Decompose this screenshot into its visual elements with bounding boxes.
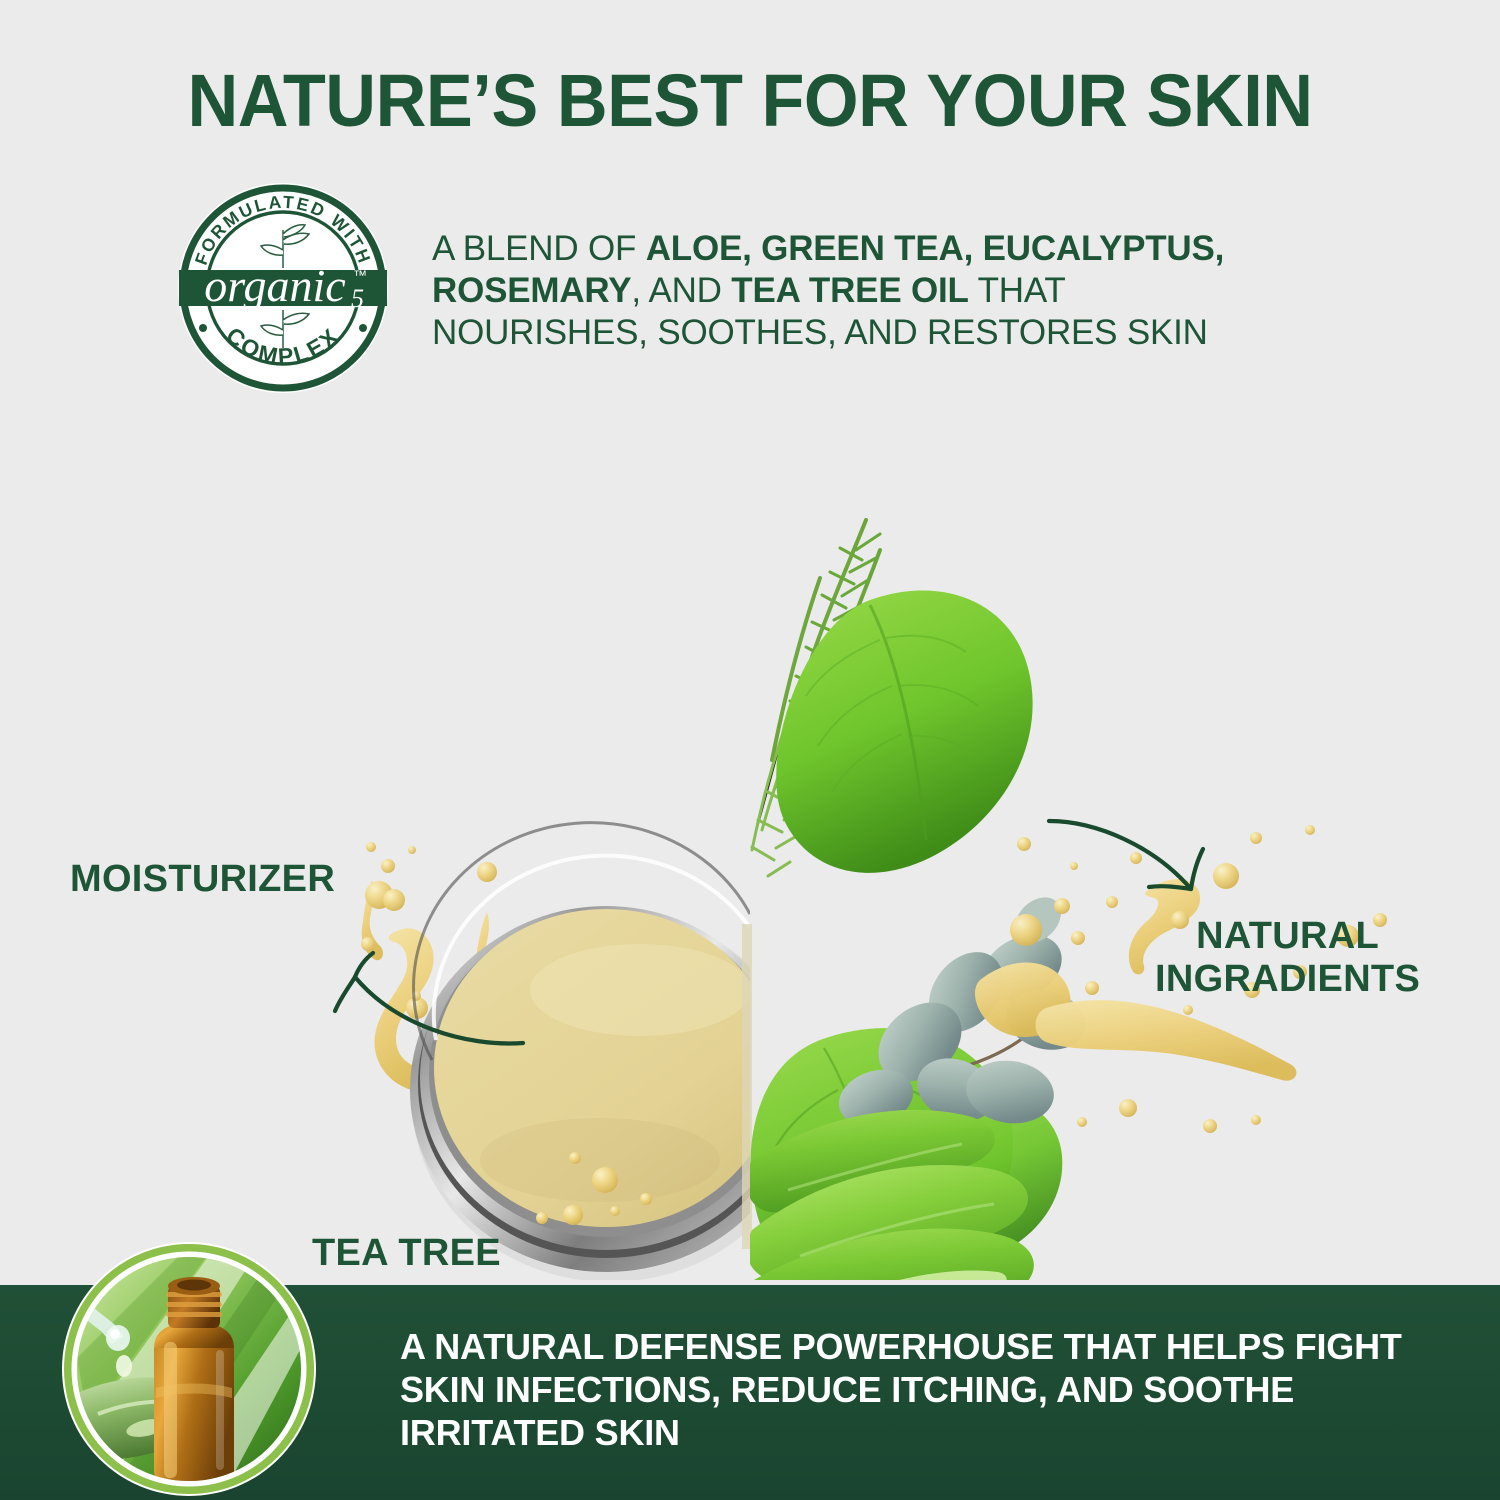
intro-text-plain-1: A BLEND OF bbox=[432, 229, 646, 268]
badge-brand-text: organic bbox=[204, 260, 345, 311]
intro-text-bold-2: ROSEMARY bbox=[432, 271, 631, 310]
banner-line-2: SKIN INFECTIONS, REDUCE ITCHING, AND SOO… bbox=[400, 1368, 1470, 1411]
oil-droplets-under-tin bbox=[460, 1080, 680, 1240]
banner-line-3: IRRITATED SKIN bbox=[400, 1411, 1470, 1454]
intro-text-bold-1: ALOE, GREEN TEA, EUCALYPTUS, bbox=[646, 229, 1224, 268]
callout-moisturizer: MOISTURIZER bbox=[70, 858, 335, 901]
intro-description: A BLEND OF ALOE, GREEN TEA, EUCALYPTUS, … bbox=[432, 228, 1352, 354]
tin-cut-face bbox=[742, 924, 752, 1249]
callout-natural-ingredients: NATURAL INGRADIENTS bbox=[1155, 915, 1420, 1000]
arrow-to-moisturizer bbox=[275, 915, 545, 1055]
product-artwork bbox=[0, 400, 1500, 1280]
badge-brand-subscript: 5 bbox=[351, 284, 364, 313]
badge-trademark: ™ bbox=[353, 267, 367, 283]
intro-text-plain-2: , AND bbox=[631, 271, 731, 310]
arrow-to-natural-ingredients bbox=[1045, 815, 1245, 925]
callout-natural-line-2: INGRADIENTS bbox=[1155, 958, 1420, 1001]
page-title: NATURE’S BEST FOR YOUR SKIN bbox=[38, 58, 1463, 143]
intro-text-plain-4: NOURISHES, SOOTHES, AND RESTORES SKIN bbox=[432, 313, 1208, 352]
organic-complex-badge: organic 5 ™ FORMULATED WITH COMPLEX bbox=[177, 182, 389, 394]
intro-text-plain-3: THAT bbox=[969, 271, 1066, 310]
intro-text-bold-3: TEA TREE OIL bbox=[731, 271, 968, 310]
banner-description: A NATURAL DEFENSE POWERHOUSE THAT HELPS … bbox=[400, 1325, 1470, 1454]
banner-line-1: A NATURAL DEFENSE POWERHOUSE THAT HELPS … bbox=[400, 1325, 1470, 1368]
callout-tea-tree: TEA TREE bbox=[312, 1232, 501, 1275]
tea-tree-photo bbox=[58, 1238, 320, 1500]
